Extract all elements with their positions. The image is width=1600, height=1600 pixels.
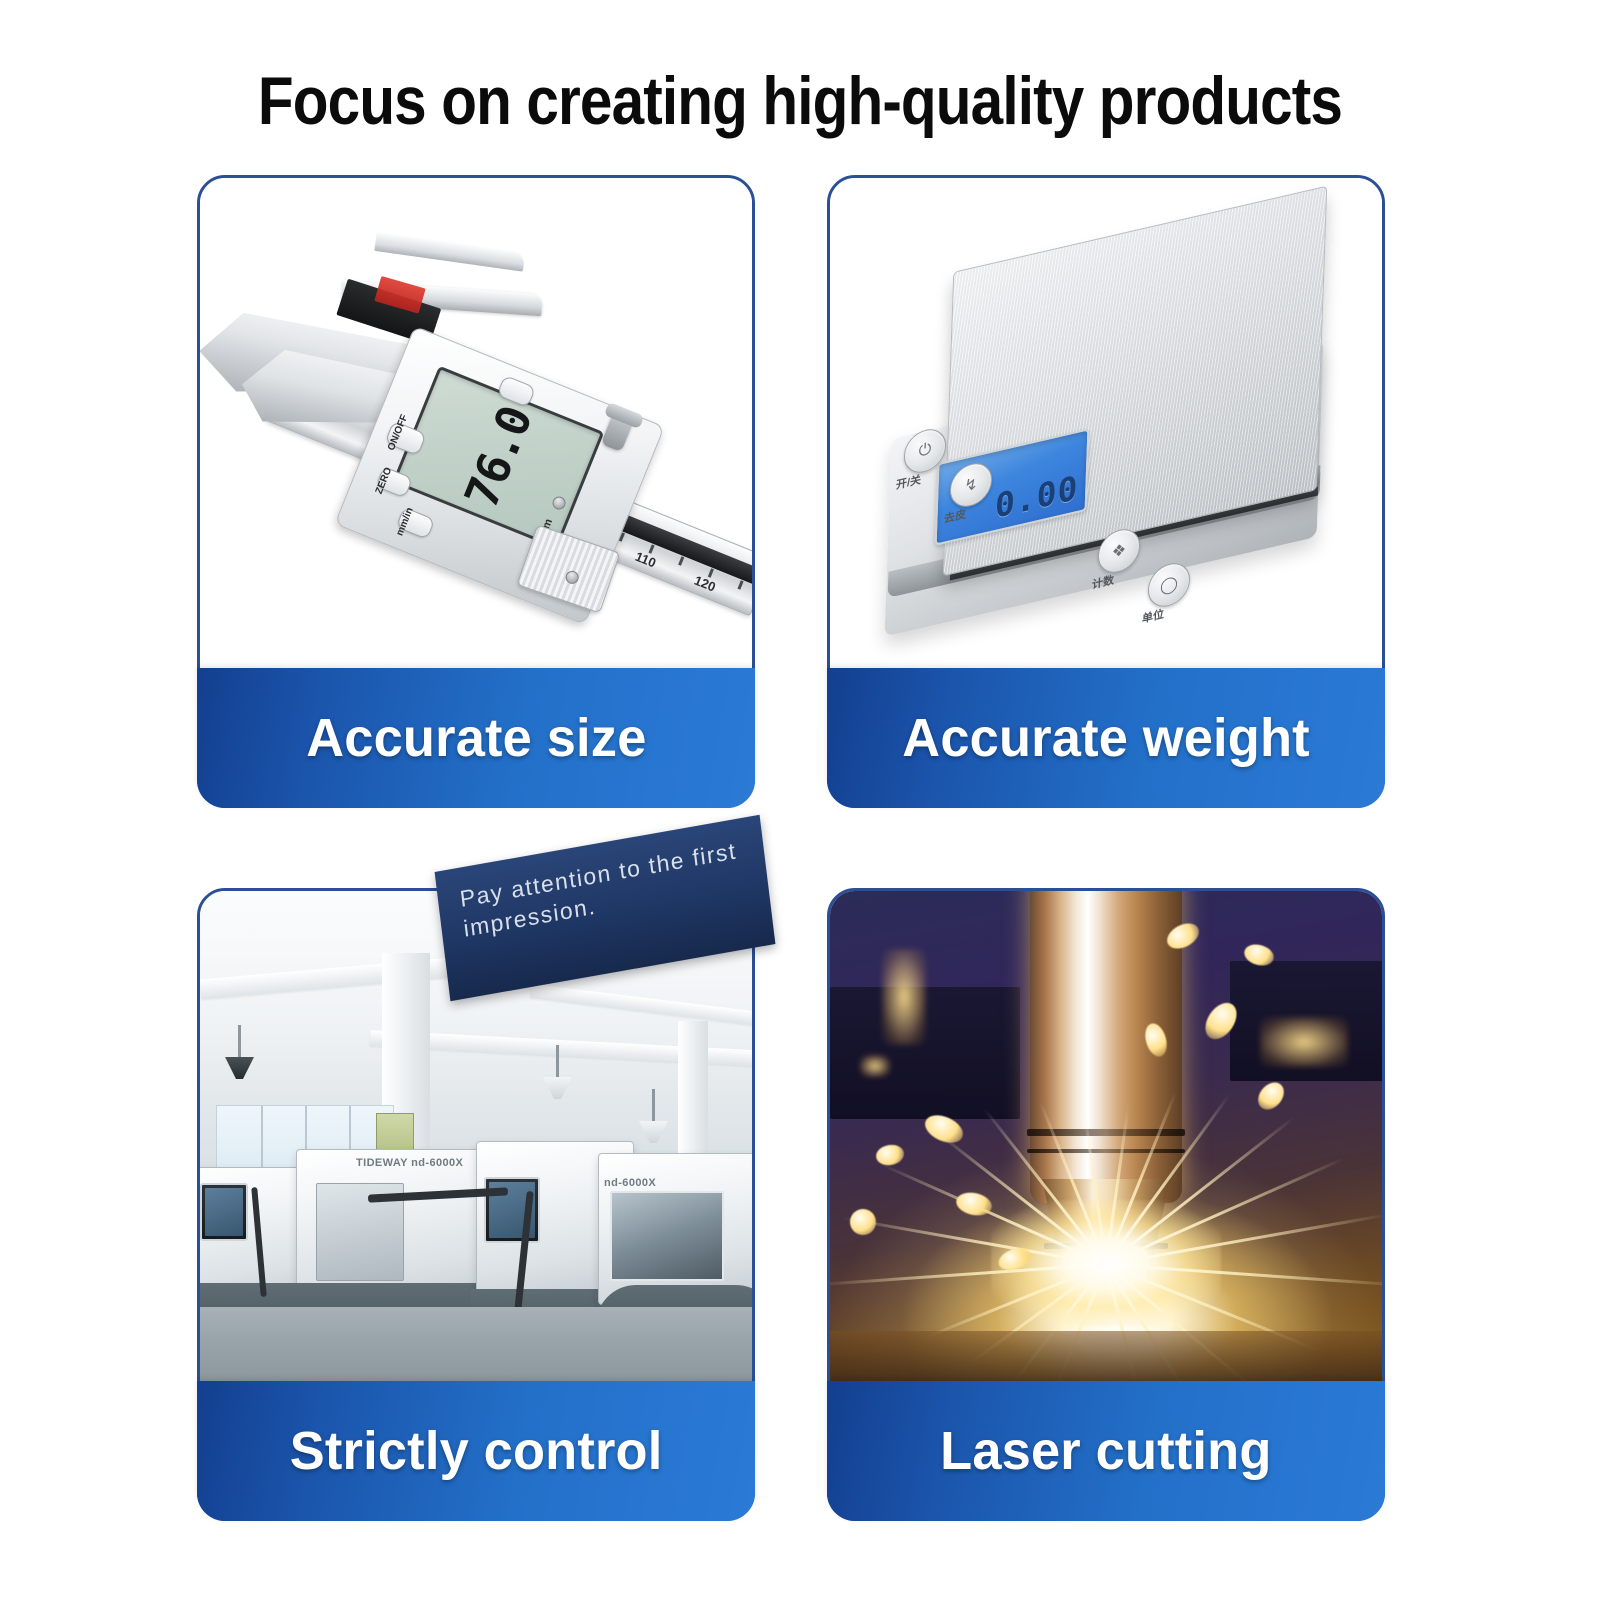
card-banner-laser-cutting: Laser cutting	[827, 1381, 1385, 1521]
background-spark-glow	[1260, 1017, 1348, 1067]
card-label: Strictly control	[290, 1420, 663, 1482]
card-label: Accurate size	[306, 707, 646, 769]
cnc-machine-label: nd-6000X	[604, 1177, 656, 1189]
cnc-panel-screen	[205, 1188, 243, 1236]
caliper-moving-upper-jaw	[374, 231, 525, 272]
spark-particle	[954, 1189, 994, 1218]
card-label: Accurate weight	[902, 707, 1310, 769]
ceiling-lamp	[556, 1045, 559, 1079]
signboard-text: Pay attention to the first impression.	[458, 834, 751, 944]
scale-tick-label: 120	[692, 573, 718, 595]
page-title: Focus on creating high-quality products	[112, 62, 1488, 140]
cnc-machine-label: TIDEWAY nd-6000X	[356, 1157, 463, 1169]
laser-scene	[830, 891, 1382, 1389]
caliper-scene: 80 90 100 110 120	[200, 178, 752, 676]
factory-floor	[200, 1307, 752, 1389]
caliper-measurement-value: 76.0	[454, 400, 543, 516]
nozzle-band	[1027, 1149, 1185, 1153]
spark-particle	[874, 1143, 905, 1168]
photo-digital-scale: 0.00 ⏻ 开/关 ↯ 去皮 ❖ 计数 ◯	[830, 178, 1382, 676]
photo-laser-cutting	[830, 891, 1382, 1389]
feature-card-grid: 80 90 100 110 120	[197, 175, 1385, 1560]
cnc-viewing-window	[610, 1191, 724, 1281]
spark-particle	[850, 1209, 876, 1235]
card-label: Laser cutting	[940, 1420, 1271, 1482]
background-spark-glow	[882, 949, 926, 1045]
feature-card-strictly-control[interactable]: TIDEWAY nd-6000X nd-6000X	[197, 888, 755, 1521]
feature-card-laser-cutting[interactable]: Laser cutting	[827, 888, 1385, 1521]
feature-card-accurate-size[interactable]: 80 90 100 110 120	[197, 175, 755, 808]
background-spark-glow	[860, 1055, 890, 1077]
card-banner-accurate-weight: Accurate weight	[827, 668, 1385, 808]
spark-particle	[1253, 1077, 1289, 1114]
card-banner-strictly-control: Strictly control	[197, 1381, 755, 1521]
caliper-illustration: 80 90 100 110 120	[200, 178, 752, 676]
scale-scene: 0.00 ⏻ 开/关 ↯ 去皮 ❖ 计数 ◯	[830, 178, 1382, 676]
feature-card-accurate-weight[interactable]: 0.00 ⏻ 开/关 ↯ 去皮 ❖ 计数 ◯	[827, 175, 1385, 808]
scale-tick-label: 110	[633, 549, 658, 571]
photo-digital-caliper: 80 90 100 110 120	[200, 178, 752, 676]
cnc-control-panel[interactable]	[200, 1183, 248, 1241]
ceiling-lamp	[238, 1025, 241, 1059]
scale-unit-label: 单位	[1142, 605, 1165, 626]
ceiling-lamp	[652, 1089, 655, 1123]
factory-pillar	[678, 1021, 708, 1171]
card-banner-accurate-size: Accurate size	[197, 668, 755, 808]
unit-icon: ◯	[1148, 560, 1189, 610]
